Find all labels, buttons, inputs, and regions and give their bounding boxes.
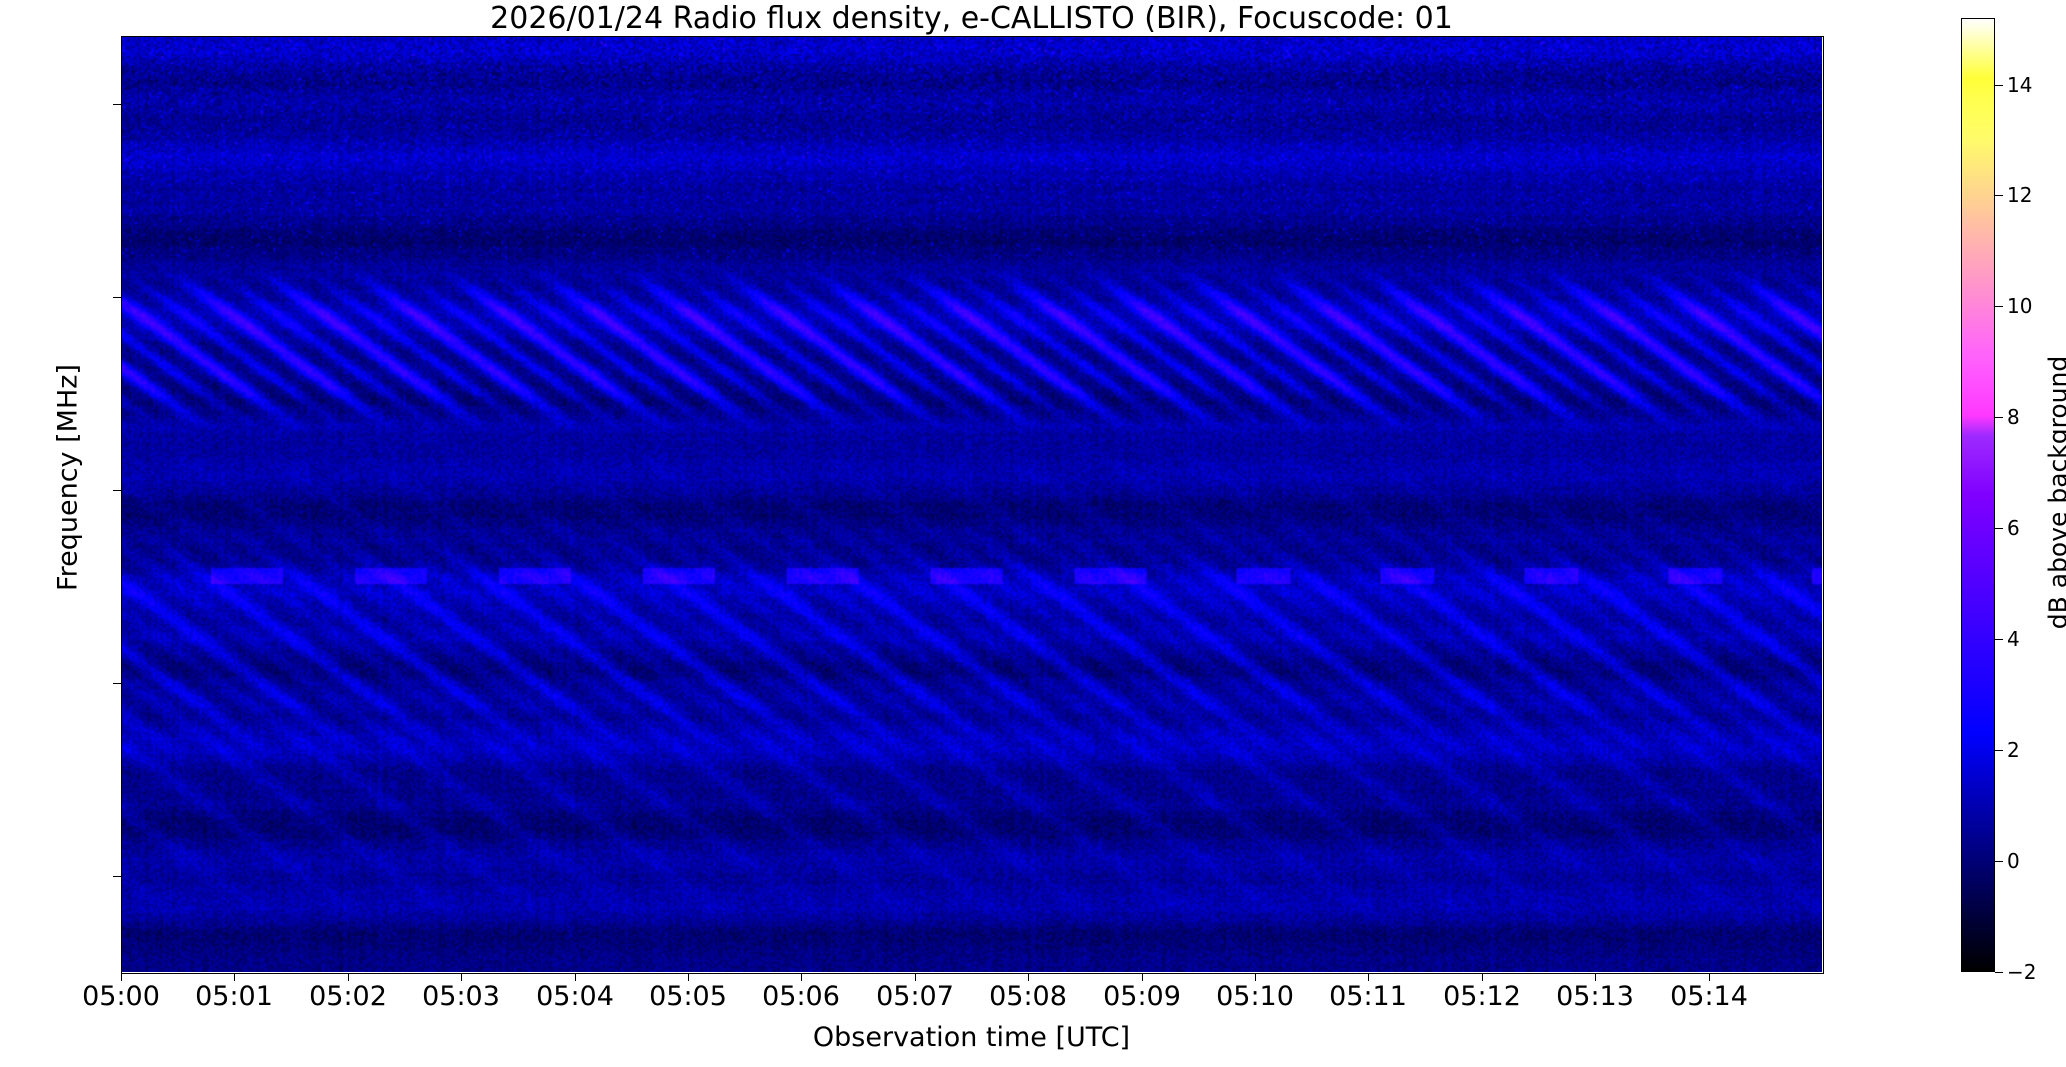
x-axis-tick-mark (234, 973, 235, 981)
x-axis-tick-mark (1368, 973, 1369, 981)
colorbar-tick-label: 14 (2007, 75, 2032, 95)
x-axis-label: Observation time [UTC] (121, 1022, 1822, 1053)
colorbar-tick-label: 6 (2007, 518, 2020, 538)
colorbar-tick-mark (1995, 417, 2003, 418)
colorbar-tick-label: 0 (2007, 851, 2020, 871)
y-axis-tick-mark (113, 297, 121, 298)
x-axis-tick-mark (348, 973, 349, 981)
colorbar-tick-mark (1995, 972, 2003, 973)
colorbar-tick-label: 2 (2007, 740, 2020, 760)
spectrogram-image (121, 36, 1822, 972)
colorbar[interactable] (1961, 18, 1995, 972)
y-axis-tick-mark (113, 876, 121, 877)
y-axis-tick-mark (113, 683, 121, 684)
colorbar-tick-label: 8 (2007, 407, 2020, 427)
colorbar-tick-mark (1995, 639, 2003, 640)
colorbar-tick-label: 12 (2007, 185, 2032, 205)
colorbar-tick-mark (1995, 85, 2003, 86)
x-axis-tick-mark (461, 973, 462, 981)
colorbar-tick-mark (1995, 195, 2003, 196)
x-axis-tick-mark (1482, 973, 1483, 981)
colorbar-tick-label: 10 (2007, 296, 2032, 316)
x-axis-tick-mark (1709, 973, 1710, 981)
y-axis-label: Frequency [MHz] (53, 28, 84, 928)
x-axis-tick-mark (575, 973, 576, 981)
colorbar-tick-mark (1995, 861, 2003, 862)
x-axis-tick-mark (1028, 973, 1029, 981)
x-axis-tick-mark (121, 973, 122, 981)
colorbar-tick-mark (1995, 750, 2003, 751)
x-axis-tick-mark (1595, 973, 1596, 981)
y-axis-tick-mark (113, 104, 121, 105)
page-title: 2026/01/24 Radio flux density, e-CALLIST… (121, 2, 1822, 36)
x-axis-tick-label: 05:14 (1619, 982, 1799, 1012)
colorbar-tick-label: 4 (2007, 629, 2020, 649)
colorbar-gradient (1962, 19, 1994, 971)
x-axis-tick-mark (915, 973, 916, 981)
figure-canvas: 2026/01/24 Radio flux density, e-CALLIST… (0, 0, 2066, 1067)
colorbar-tick-label: −2 (2007, 962, 2036, 982)
spectrogram-plot-area[interactable] (121, 36, 1822, 972)
x-axis-tick-mark (688, 973, 689, 981)
colorbar-tick-mark (1995, 306, 2003, 307)
x-axis-tick-mark (1142, 973, 1143, 981)
colorbar-tick-mark (1995, 528, 2003, 529)
x-axis-tick-mark (1255, 973, 1256, 981)
colorbar-label: dB above background (2044, 343, 2066, 643)
x-axis-tick-mark (801, 973, 802, 981)
y-axis-tick-mark (113, 490, 121, 491)
